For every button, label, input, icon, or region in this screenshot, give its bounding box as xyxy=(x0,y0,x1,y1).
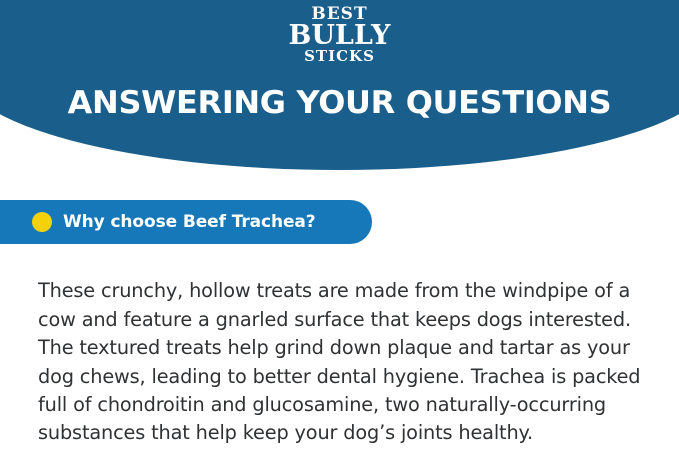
question-pill-label: Why choose Beef Trachea? xyxy=(63,212,316,232)
answer-paragraph: These crunchy, hollow treats are made fr… xyxy=(38,277,646,447)
brand-logo-line-3: STICKS xyxy=(0,49,679,64)
page-title: ANSWERING YOUR QUESTIONS xyxy=(0,86,679,120)
brand-logo: BEST BULLY STICKS xyxy=(0,6,679,64)
brand-logo-line-2: BULLY xyxy=(0,22,679,49)
question-pill[interactable]: Why choose Beef Trachea? xyxy=(0,200,372,244)
header-banner-content: BEST BULLY STICKS ANSWERING YOUR QUESTIO… xyxy=(0,0,679,170)
yellow-dot-icon xyxy=(32,212,52,232)
header-banner: BEST BULLY STICKS ANSWERING YOUR QUESTIO… xyxy=(0,0,679,170)
